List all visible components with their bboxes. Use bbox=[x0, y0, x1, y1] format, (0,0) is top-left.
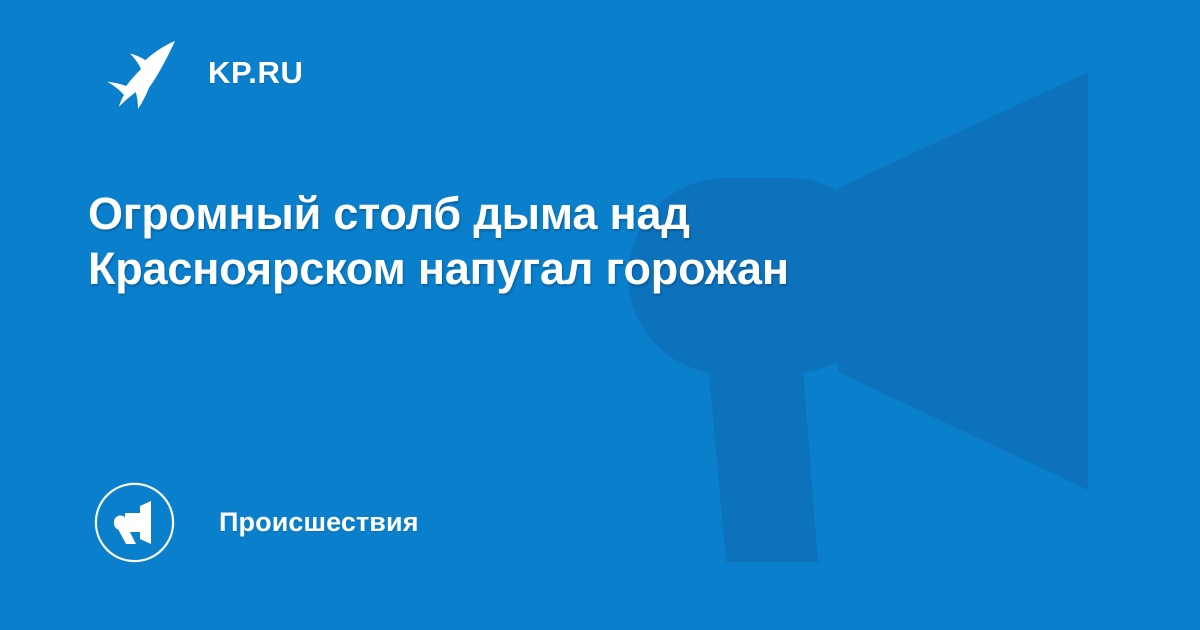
brand-name: KP.RU bbox=[208, 57, 303, 88]
share-card: KP.RU Огромный столб дыма над Красноярск… bbox=[0, 0, 1200, 630]
category-badge[interactable]: Происшествия bbox=[94, 481, 419, 563]
megaphone-icon bbox=[94, 482, 175, 563]
category-label: Происшествия bbox=[219, 509, 419, 536]
page-title: Огромный столб дыма над Красноярском нап… bbox=[88, 186, 918, 296]
brand-logo[interactable]: KP.RU bbox=[104, 34, 303, 110]
swallow-bird-icon bbox=[104, 35, 178, 109]
